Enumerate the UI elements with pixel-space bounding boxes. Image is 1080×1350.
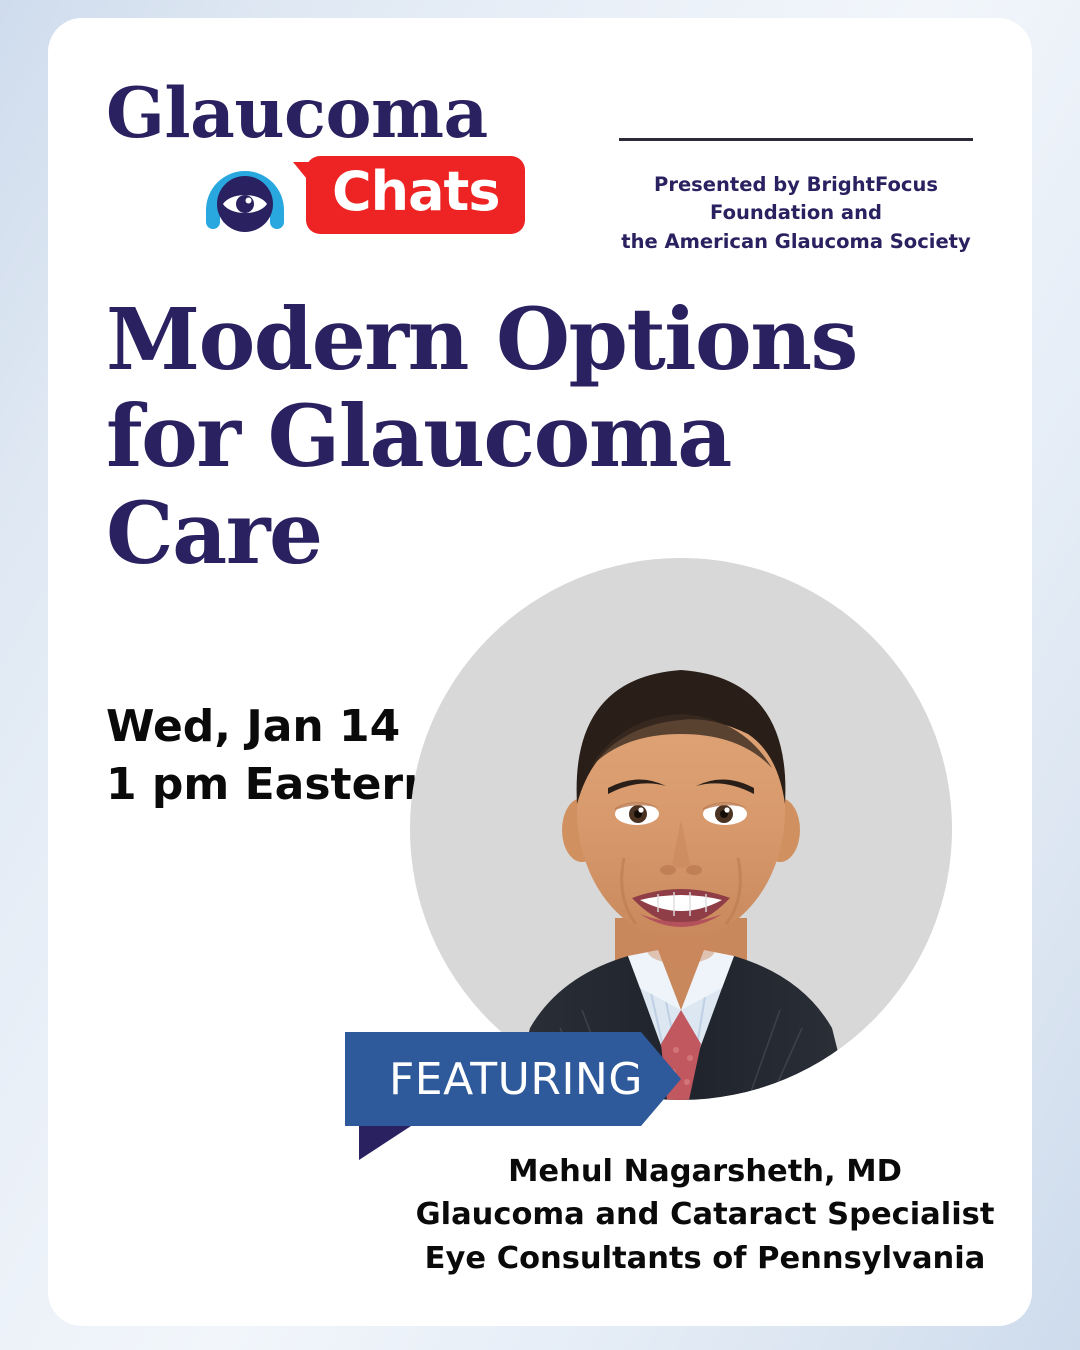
speaker-title: Glaucoma and Cataract Specialist xyxy=(400,1193,1010,1236)
headphones-eye-icon xyxy=(198,154,292,236)
event-date: Wed, Jan 14 xyxy=(106,701,400,752)
headline-line-1: Modern Options xyxy=(106,290,857,390)
event-promo-poster: Glaucoma Chats xyxy=(0,0,1080,1350)
presented-by-line-1: Presented by BrightFocus Foundation and xyxy=(654,173,938,224)
brand-wordmark: Glaucoma xyxy=(106,80,566,148)
presented-by-line-2: the American Glaucoma Society xyxy=(621,230,970,253)
chats-badge-label: Chats xyxy=(332,165,499,219)
headline-line-2: for Glaucoma xyxy=(106,387,731,487)
divider-rule xyxy=(619,138,973,141)
featuring-banner-label: FEATURING xyxy=(389,1054,643,1105)
headline-line-3: Care xyxy=(106,484,322,584)
poster-card: Glaucoma Chats xyxy=(48,18,1032,1326)
event-time: 1 pm Eastern xyxy=(106,759,434,810)
featuring-banner-ribbon: FEATURING xyxy=(345,1032,681,1126)
speaker-credit: Mehul Nagarsheth, MD Glaucoma and Catara… xyxy=(400,1150,1010,1280)
chats-badge: Chats xyxy=(306,156,525,234)
speaker-portrait xyxy=(410,558,952,1100)
speaker-name: Mehul Nagarsheth, MD xyxy=(400,1150,1010,1193)
presented-by-text: Presented by BrightFocus Foundation and … xyxy=(596,171,996,256)
brand-logo-lockup: Glaucoma Chats xyxy=(106,80,566,236)
speaker-affiliation: Eye Consultants of Pennsylvania xyxy=(400,1237,1010,1280)
brand-badge-row: Chats xyxy=(198,154,566,236)
presented-by-block: Presented by BrightFocus Foundation and … xyxy=(596,138,996,256)
page-title: Modern Options for Glaucoma Care xyxy=(106,292,906,583)
